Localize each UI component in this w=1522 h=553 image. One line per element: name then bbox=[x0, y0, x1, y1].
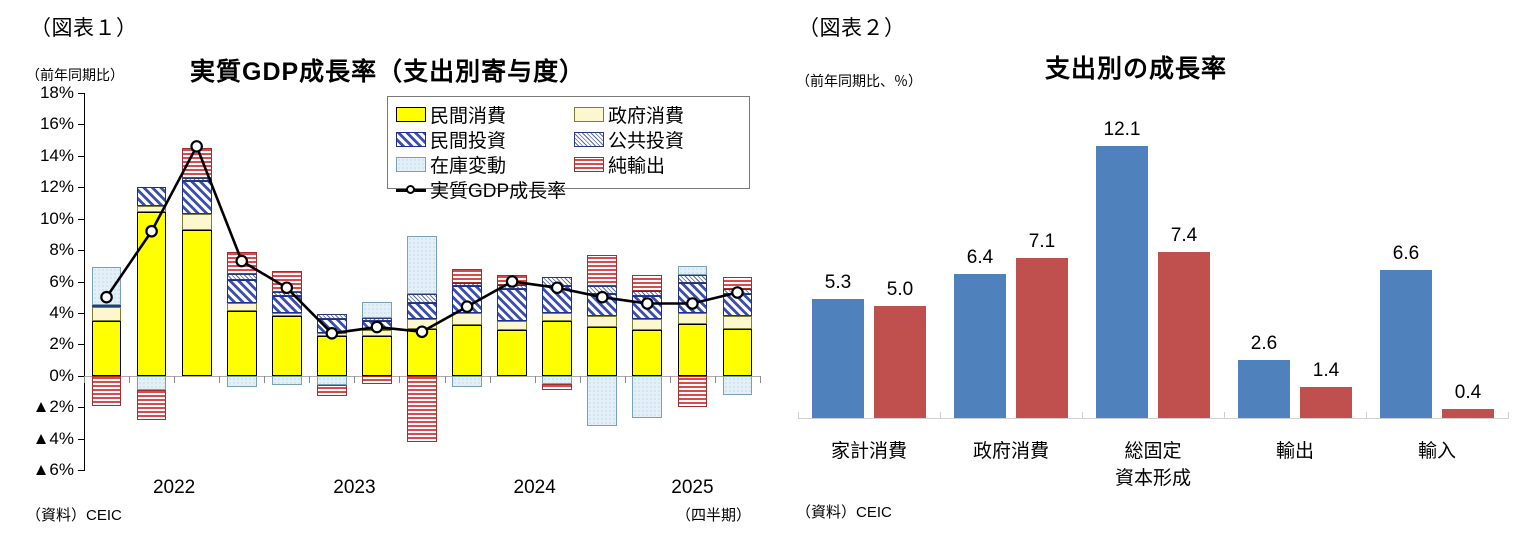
figure1-bar-segment-public_investment bbox=[632, 291, 662, 296]
figure1-y-tick-label: 8% bbox=[0, 241, 74, 258]
figure1-y-tick-label: ▲2% bbox=[0, 398, 74, 415]
figure1-bar-segment-government_consumption bbox=[452, 313, 482, 326]
figure2-axis-separator bbox=[798, 412, 799, 419]
figure2-bar-q2 bbox=[812, 299, 864, 418]
figure1-bar-segment-private_investment bbox=[272, 296, 302, 313]
figure1-bar-segment-private_investment bbox=[542, 286, 572, 313]
figure2-value-label: 5.0 bbox=[862, 279, 938, 301]
figure1-bar-segment-net_exports bbox=[678, 376, 708, 407]
figure1-legend-label: 公共投資 bbox=[608, 126, 684, 153]
figure1-xaxis-note: （四半期） bbox=[676, 508, 751, 523]
figure1-unit-label: （前年同期比） bbox=[26, 68, 124, 82]
figure2-bar-q3 bbox=[1300, 387, 1352, 419]
figure1-x-tick bbox=[535, 376, 536, 383]
figure1-bar bbox=[92, 93, 122, 470]
legend-swatch-icon bbox=[396, 107, 426, 122]
figure1-bar-segment-private_investment bbox=[407, 303, 437, 319]
figure1-bar-segment-public_investment bbox=[542, 277, 572, 286]
figure1-bar-segment-private_consumption bbox=[632, 330, 662, 376]
figure1-bar-segment-net_exports bbox=[632, 275, 662, 291]
figure2-value-label: 0.4 bbox=[1430, 382, 1506, 404]
figure1-bar-segment-public_investment bbox=[407, 294, 437, 303]
figure1-x-tick bbox=[625, 376, 626, 383]
figure1-bar-segment-inventory_change bbox=[272, 376, 302, 385]
figure1-bar-segment-private_consumption bbox=[497, 330, 527, 376]
figure1-label: （図表１） bbox=[30, 18, 138, 39]
figure1-bar bbox=[317, 93, 347, 470]
figure2-value-label: 1.4 bbox=[1288, 360, 1364, 382]
figure2-category-label: 家計消費 bbox=[799, 436, 939, 463]
figure1-legend: 民間消費政府消費民間投資公共投資在庫変動純輸出実質GDP成長率 bbox=[387, 96, 750, 189]
figure1-bar-segment-government_consumption bbox=[407, 319, 437, 328]
figure1-bar-segment-inventory_change bbox=[452, 376, 482, 387]
figure2-value-label: 12.1 bbox=[1084, 119, 1160, 141]
figure1-legend-item-government_consumption: 政府消費 bbox=[574, 101, 684, 128]
figure1-year-label: 2022 bbox=[144, 478, 204, 497]
figure1-bar-segment-government_consumption bbox=[362, 330, 392, 336]
legend-swatch-icon bbox=[396, 132, 426, 147]
figure1-legend-item-net_exports: 純輸出 bbox=[574, 151, 665, 178]
figure1-legend-label: 実質GDP成長率 bbox=[430, 176, 566, 203]
figure1-bar-segment-public_investment bbox=[497, 285, 527, 290]
figure1-legend-item-real_gdp_growth: 実質GDP成長率 bbox=[396, 176, 566, 203]
figure1-bar-segment-private_investment bbox=[497, 289, 527, 320]
figure1-x-tick bbox=[174, 376, 175, 383]
figure1-bar-segment-public_investment bbox=[723, 289, 753, 294]
figure1-year-label: 2025 bbox=[662, 478, 722, 497]
figure1-y-tick-label: 6% bbox=[0, 273, 74, 290]
figure1-y-tick-label: 14% bbox=[0, 147, 74, 164]
figure2-bar-q3 bbox=[1158, 252, 1210, 419]
figure1-container: （図表１） （前年同期比） 実質GDP成長率（支出別寄与度） 18%16%14%… bbox=[0, 0, 780, 553]
figure1-bar-segment-private_consumption bbox=[542, 321, 572, 376]
figure1-bar bbox=[137, 93, 167, 470]
legend-swatch-icon bbox=[574, 132, 604, 147]
figure1-legend-label: 民間消費 bbox=[430, 101, 506, 128]
figure1-bar-segment-private_investment bbox=[723, 294, 753, 316]
figure1-x-tick bbox=[309, 376, 310, 383]
figure1-y-tick-label: 18% bbox=[0, 84, 74, 101]
figure1-bar-segment-private_consumption bbox=[182, 230, 212, 376]
figure2-bar-q2 bbox=[954, 274, 1006, 418]
figure1-x-tick bbox=[715, 376, 716, 383]
figure2-axis-separator bbox=[1508, 412, 1509, 419]
figure1-year-label: 2024 bbox=[505, 478, 565, 497]
figure1-x-tick bbox=[399, 376, 400, 383]
figure1-bar-segment-private_investment bbox=[362, 321, 392, 330]
figure1-bar-segment-net_exports bbox=[362, 376, 392, 384]
figure1-bar-segment-private_investment bbox=[227, 280, 257, 304]
figure1-bar-segment-private_consumption bbox=[317, 336, 347, 375]
figure1-bar-segment-government_consumption bbox=[227, 303, 257, 311]
figure1-x-tick bbox=[445, 376, 446, 383]
figure1-bar-segment-private_consumption bbox=[587, 327, 617, 376]
figure1-y-tick-label: ▲6% bbox=[0, 461, 74, 478]
figure1-bar-segment-inventory_change bbox=[723, 376, 753, 395]
figure1-legend-label: 政府消費 bbox=[608, 101, 684, 128]
figure1-bar-segment-inventory_change bbox=[92, 267, 122, 305]
figure2-container: （図表２） （前年同期比、％） 支出別の成長率 25年Q225年Q3 5.35.… bbox=[780, 0, 1522, 553]
figure2-bar-q3 bbox=[1016, 258, 1068, 418]
figure2-baseline bbox=[798, 418, 1508, 419]
figure1-bar-segment-private_investment bbox=[452, 286, 482, 313]
figure1-bar-segment-private_consumption bbox=[678, 324, 708, 376]
figure1-bar-segment-private_investment bbox=[317, 319, 347, 333]
figure2-category-label: 資本形成 bbox=[1083, 463, 1223, 490]
figure1-bar-segment-private_consumption bbox=[137, 212, 167, 375]
legend-swatch-icon bbox=[574, 107, 604, 122]
figure1-x-tick bbox=[129, 376, 130, 383]
figure2-value-label: 7.4 bbox=[1146, 225, 1222, 247]
figure1-bar-segment-government_consumption bbox=[587, 316, 617, 327]
figure1-bar bbox=[272, 93, 302, 470]
figure1-bar-segment-net_exports bbox=[137, 390, 167, 420]
figure1-x-tick bbox=[264, 376, 265, 383]
figure1-bar-segment-government_consumption bbox=[317, 333, 347, 336]
figure1-legend-label: 在庫変動 bbox=[430, 151, 506, 178]
figure1-bar-segment-private_consumption bbox=[362, 336, 392, 375]
figure1-bar-segment-private_consumption bbox=[723, 329, 753, 376]
figure2-axis-separator bbox=[1366, 412, 1367, 419]
figure1-bar-segment-government_consumption bbox=[182, 214, 212, 230]
figure1-bar-segment-public_investment bbox=[317, 314, 347, 319]
figure1-bar-segment-net_exports bbox=[92, 376, 122, 406]
figure1-year-label: 2023 bbox=[324, 478, 384, 497]
figure1-legend-label: 純輸出 bbox=[608, 151, 665, 178]
legend-swatch-icon bbox=[574, 157, 604, 172]
figure2-category-label: 輸入 bbox=[1367, 436, 1507, 463]
figure2-category-label: 政府消費 bbox=[941, 436, 1081, 463]
figure1-bar-segment-net_exports bbox=[317, 385, 347, 396]
figure1-bar-segment-net_exports bbox=[182, 148, 212, 178]
figure1-bar-segment-public_investment bbox=[678, 275, 708, 283]
figure2-value-label: 7.1 bbox=[1004, 231, 1080, 253]
figure1-bar-segment-net_exports bbox=[227, 252, 257, 274]
legend-swatch-icon bbox=[396, 157, 426, 172]
figure1-y-tick-label: 2% bbox=[0, 335, 74, 352]
figure1-legend-label: 民間投資 bbox=[430, 126, 506, 153]
figure1-bar-segment-private_consumption bbox=[272, 316, 302, 376]
figure1-bar-segment-public_investment bbox=[182, 178, 212, 181]
figure1-bar-segment-public_investment bbox=[587, 286, 617, 294]
figure1-bar-segment-private_investment bbox=[632, 296, 662, 320]
figure2-value-label: 2.6 bbox=[1226, 333, 1302, 355]
figure1-legend-item-private_consumption: 民間消費 bbox=[396, 101, 506, 128]
figure1-bar-segment-net_exports bbox=[272, 271, 302, 293]
figure1-y-tick-label: 10% bbox=[0, 210, 74, 227]
figure1-x-tick bbox=[580, 376, 581, 383]
figure2-source: （資料）CEIC bbox=[796, 505, 892, 520]
figure1-bar-segment-net_exports bbox=[497, 275, 527, 284]
figure1-bar-segment-public_investment bbox=[452, 283, 482, 286]
figure1-bar-segment-public_investment bbox=[272, 292, 302, 295]
figure1-y-tick-label: ▲4% bbox=[0, 430, 74, 447]
figure1-bar-segment-net_exports bbox=[542, 384, 572, 390]
figure1-bar-segment-inventory_change bbox=[137, 376, 167, 390]
figure1-y-tick-label: 12% bbox=[0, 178, 74, 195]
figure1-y-tick-label: 16% bbox=[0, 115, 74, 132]
figure1-bar bbox=[227, 93, 257, 470]
figure1-bar-segment-inventory_change bbox=[587, 376, 617, 426]
figure1-x-tick bbox=[354, 376, 355, 383]
figure1-bar-segment-private_consumption bbox=[452, 325, 482, 375]
figure1-bar-segment-private_investment bbox=[587, 294, 617, 316]
figure1-source: （資料）CEIC bbox=[26, 508, 122, 523]
figure1-bar-segment-government_consumption bbox=[137, 206, 167, 212]
figure2-axis-separator bbox=[1224, 412, 1225, 419]
page-root: （図表１） （前年同期比） 実質GDP成長率（支出別寄与度） 18%16%14%… bbox=[0, 0, 1522, 553]
figure1-bar-segment-net_exports bbox=[407, 376, 437, 442]
figure1-bar-segment-private_consumption bbox=[407, 329, 437, 376]
figure1-y-tick bbox=[78, 470, 85, 471]
figure1-bar-segment-government_consumption bbox=[632, 319, 662, 330]
figure1-bar-segment-inventory_change bbox=[632, 376, 662, 418]
figure1-bar-segment-private_investment bbox=[678, 283, 708, 313]
figure2-value-label: 6.6 bbox=[1368, 243, 1444, 265]
figure1-bar-segment-net_exports bbox=[587, 255, 617, 286]
figure1-x-tick bbox=[490, 376, 491, 383]
figure1-x-tick bbox=[219, 376, 220, 383]
figure1-bar-segment-government_consumption bbox=[723, 316, 753, 329]
figure1-bar bbox=[182, 93, 212, 470]
figure2-bar-q2 bbox=[1380, 270, 1432, 419]
figure2-bar-q2 bbox=[1096, 146, 1148, 418]
figure1-bar-segment-government_consumption bbox=[497, 321, 527, 330]
figure2-category-label: 輸出 bbox=[1225, 436, 1365, 463]
figure2-axis-separator bbox=[940, 412, 941, 419]
figure1-bar-segment-government_consumption bbox=[92, 307, 122, 321]
figure1-bar-segment-public_investment bbox=[92, 305, 122, 307]
figure1-bar-segment-inventory_change bbox=[678, 266, 708, 275]
legend-line-marker-icon bbox=[396, 182, 426, 197]
figure2-bar-q2 bbox=[1238, 360, 1290, 419]
figure1-y-tick-label: 0% bbox=[0, 367, 74, 384]
figure1-bar-segment-inventory_change bbox=[317, 376, 347, 385]
figure1-bar-segment-inventory_change bbox=[407, 236, 437, 294]
figure1-bar-segment-net_exports bbox=[723, 277, 753, 290]
figure1-bar-segment-government_consumption bbox=[272, 313, 302, 316]
figure1-legend-item-inventory_change: 在庫変動 bbox=[396, 151, 506, 178]
figure1-x-tick bbox=[670, 376, 671, 383]
figure1-bar-segment-private_consumption bbox=[92, 321, 122, 376]
figure1-x-tick bbox=[760, 376, 761, 383]
figure1-bar-segment-private_consumption bbox=[227, 311, 257, 375]
figure1-bar-segment-private_investment bbox=[182, 181, 212, 214]
figure1-title: 実質GDP成長率（支出別寄与度） bbox=[190, 60, 585, 85]
figure1-bar-segment-net_exports bbox=[452, 269, 482, 283]
figure1-bar-segment-private_investment bbox=[137, 187, 167, 206]
figure2-bar-q3 bbox=[874, 306, 926, 419]
figure1-legend-item-private_investment: 民間投資 bbox=[396, 126, 506, 153]
figure2-axis-separator bbox=[1082, 412, 1083, 419]
figure2-category-label: 総固定 bbox=[1083, 436, 1223, 463]
figure1-x-tick bbox=[84, 376, 85, 383]
figure1-y-tick-label: 4% bbox=[0, 304, 74, 321]
figure1-bar-segment-inventory_change bbox=[362, 302, 392, 318]
figure1-bar-segment-inventory_change bbox=[542, 376, 572, 384]
figure1-bar-segment-government_consumption bbox=[678, 313, 708, 324]
figure1-bar-segment-inventory_change bbox=[227, 376, 257, 387]
figure2-bar-q3 bbox=[1442, 409, 1494, 418]
figure1-bar-segment-public_investment bbox=[227, 274, 257, 280]
figure1-bar-segment-public_investment bbox=[362, 318, 392, 321]
figure1-bar-segment-government_consumption bbox=[542, 313, 572, 321]
figure1-legend-item-public_investment: 公共投資 bbox=[574, 126, 684, 153]
